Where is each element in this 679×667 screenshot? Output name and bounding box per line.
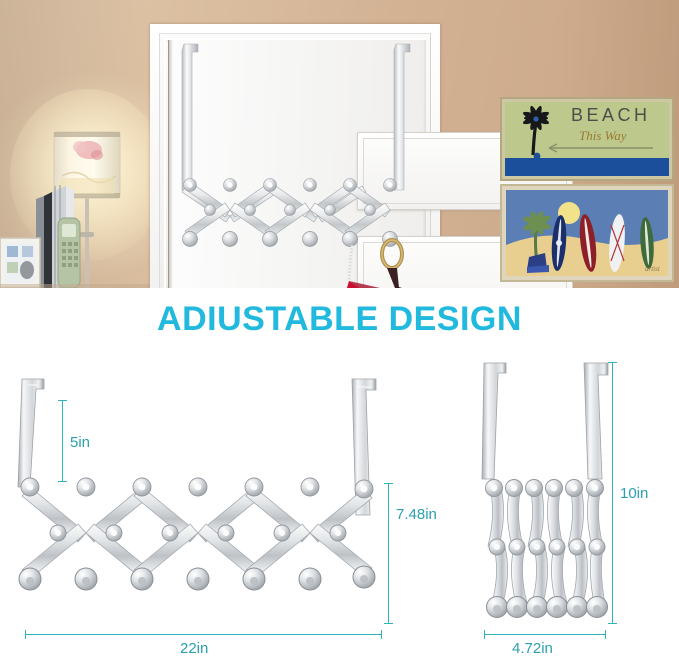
page-title: ADIUSTABLE DESIGN	[0, 300, 679, 339]
svg-text:artist: artist	[645, 265, 661, 273]
dim-label-overall-width-expanded: 22in	[180, 640, 208, 657]
dim-line-overall-width-expanded	[25, 634, 382, 635]
hanging-umbrella	[382, 240, 402, 288]
lamp-pole-joint	[80, 232, 94, 237]
compressed-links	[488, 488, 605, 603]
compressed-top-pivots	[486, 480, 604, 497]
left-decor-group	[0, 0, 160, 288]
lifestyle-photo: BEACH This Way	[0, 0, 679, 288]
dim-label-overall-width-compressed: 4.72in	[512, 640, 553, 657]
dim-label-hook-height: 5in	[70, 434, 90, 451]
beach-sign-subtitle: This Way	[579, 128, 627, 143]
dim-line-hook-height	[62, 400, 63, 482]
cordless-phone	[58, 218, 80, 288]
left-over-door-hook	[18, 379, 44, 487]
beach-sign-title: BEACH	[571, 105, 651, 125]
expanded-top-pivots	[21, 478, 373, 498]
compressed-left-hook	[482, 363, 506, 479]
picture-frame	[0, 238, 40, 288]
dim-label-overall-height-expanded: 7.48in	[396, 506, 437, 523]
wall-art-group: BEACH This Way	[495, 85, 679, 285]
compressed-right-hook	[584, 363, 608, 479]
surfboard-art: artist	[501, 185, 673, 281]
lamp-pole	[85, 196, 89, 288]
expanded-bottom-knobs	[19, 566, 375, 590]
beach-sign-art: BEACH This Way	[501, 98, 673, 180]
dim-line-overall-height-expanded	[388, 483, 389, 624]
door-rack	[168, 40, 428, 288]
expanded-rack-diagram	[8, 365, 408, 635]
compressed-rack-diagram	[468, 355, 628, 625]
rack-bottom-knobs	[183, 232, 398, 247]
accordion-lattice-expanded	[22, 487, 372, 579]
dim-line-overall-width-compressed	[484, 634, 606, 635]
dim-line-overall-height-compressed	[612, 362, 613, 624]
compressed-bottom-knobs	[487, 597, 608, 618]
dim-label-overall-height-compressed: 10in	[620, 485, 648, 502]
over-door-hooks	[182, 44, 410, 190]
hanging-red-bag	[344, 245, 380, 288]
product-image: BEACH This Way	[0, 0, 679, 667]
